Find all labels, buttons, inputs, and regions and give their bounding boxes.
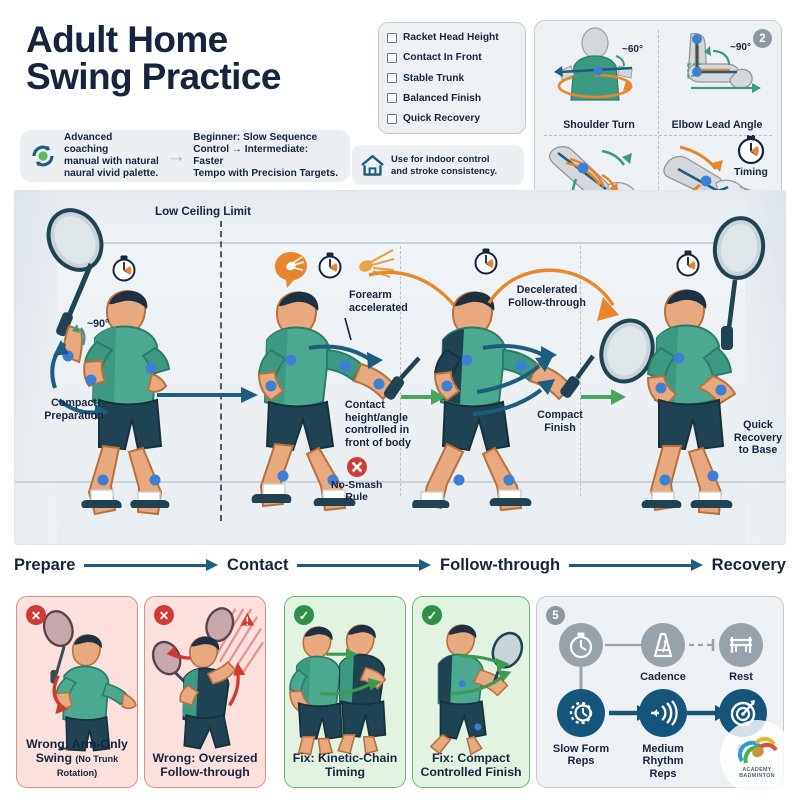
ceiling-limit-divider xyxy=(220,221,222,521)
prepare-angle-label: ~90° xyxy=(87,318,109,330)
stage-label-followthrough: Follow-through xyxy=(440,556,560,575)
home-tip-text: Use for indoor control and stroke consis… xyxy=(391,153,497,177)
no-smash-label: No-Smash Rule xyxy=(331,480,382,503)
checklist-item[interactable]: Racket Head Height xyxy=(387,32,517,43)
home-icon xyxy=(360,154,385,177)
home-tip-bar: Use for indoor control and stroke consis… xyxy=(352,145,524,185)
check-circle-icon: ✓ xyxy=(422,605,442,625)
figure-caption-prepare: Compact Preparation xyxy=(37,397,111,422)
infographic-page: Adult Home Swing Practice Advanced coach… xyxy=(0,0,800,800)
progression-node-label: Medium Rhythm Reps xyxy=(625,743,701,780)
elbow-flex-icon: ~90° xyxy=(658,26,776,120)
checklist-item[interactable]: Quick Recovery xyxy=(387,113,517,124)
x-circle-icon xyxy=(346,456,368,478)
stage-connector-arrow xyxy=(84,559,218,571)
stopwatch-icon xyxy=(111,254,137,282)
checkbox-icon[interactable] xyxy=(387,93,397,103)
academy-logo-icon xyxy=(736,735,778,767)
timing-label: Timing xyxy=(734,167,768,178)
progression-node-label: Slow Form Reps xyxy=(543,743,619,768)
main-sequence-scene: Low Ceiling Limit xyxy=(14,190,786,545)
progression-node-label: Rest xyxy=(703,671,779,683)
figure-recovery xyxy=(635,208,785,508)
checklist-label: Balanced Finish xyxy=(403,93,481,104)
card-wrong-arm-only: ✕ Wrong: Arm-OnlySwing (No Trunk Rotatio… xyxy=(16,596,138,788)
checkbox-icon[interactable] xyxy=(387,73,397,83)
card-caption: Wrong: Oversized Follow-through xyxy=(153,752,258,780)
watermark-logo: ACADEMY BADMINTON xyxy=(720,720,794,794)
racket-icon xyxy=(711,215,767,350)
stopwatch-icon xyxy=(568,631,594,659)
progression-node-medium-rhythm xyxy=(639,689,687,737)
figure-prepare xyxy=(33,208,203,508)
progression-node-label: Cadence xyxy=(625,671,701,683)
torso-rotation-icon: ~60° xyxy=(540,26,658,120)
checklist-panel: Racket Head Height Contact In Front Stab… xyxy=(378,22,526,134)
page-title: Adult Home Swing Practice xyxy=(26,22,281,95)
figure-followthrough xyxy=(413,208,598,508)
shuttle-callout-icon xyxy=(273,251,309,289)
figure-caption-recovery: Quick Recovery to Base xyxy=(727,419,786,457)
checklist-item[interactable]: Contact In Front xyxy=(387,52,517,63)
card-caption: Wrong: Arm-OnlySwing (No Trunk Rotation) xyxy=(17,738,137,780)
cycle-refresh-icon xyxy=(29,142,57,170)
no-smash-marker: No-Smash Rule xyxy=(331,456,382,503)
card-fix-compact-finish: ✓ Fix: Compact Controlled Finish xyxy=(412,596,530,788)
slow-clock-icon xyxy=(567,699,595,727)
rhythm-waves-icon xyxy=(648,700,678,726)
card-wrong-oversized: ✕ xyxy=(144,596,266,788)
technique-cell-shoulder-turn: ~60° Shoulder Turn xyxy=(540,26,658,135)
technique-cell-elbow-lead: ~90° Elbow Lead Angle xyxy=(658,26,776,135)
checklist-label: Contact In Front xyxy=(403,52,482,63)
stopwatch-icon xyxy=(739,135,763,163)
header-note-bar: Advanced coaching manual with natural na… xyxy=(20,130,350,182)
card-fix-kinetic-chain: ✓ Fix: Kinetic-Cha xyxy=(284,596,406,788)
technique-caption: Elbow Lead Angle xyxy=(672,120,763,132)
checkbox-icon[interactable] xyxy=(387,114,397,124)
stopwatch-icon xyxy=(675,249,701,277)
x-circle-icon: ✕ xyxy=(154,605,174,625)
progression-node-rest xyxy=(719,623,763,667)
checklist-item[interactable]: Balanced Finish xyxy=(387,93,517,104)
progression-node-stopwatch xyxy=(559,623,603,667)
scene-arrow-prepare-contact xyxy=(157,387,259,403)
checklist-label: Racket Head Height xyxy=(403,32,499,43)
stage-connector-arrow xyxy=(297,559,431,571)
checklist-label: Stable Trunk xyxy=(403,73,464,84)
stage-label-row: Prepare Contact Follow-through Recovery xyxy=(14,548,786,582)
stage-label-prepare: Prepare xyxy=(14,556,75,575)
racket-icon-secondary xyxy=(148,638,188,686)
checklist-label: Quick Recovery xyxy=(403,113,480,124)
checkbox-icon[interactable] xyxy=(387,33,397,43)
x-circle-icon: ✕ xyxy=(26,605,46,625)
watermark-line2: BADMINTON xyxy=(739,773,775,779)
scene-arrow-followthrough-recovery xyxy=(581,389,627,405)
checklist-item[interactable]: Stable Trunk xyxy=(387,73,517,84)
followthrough-trajectory-arrow xyxy=(487,255,637,355)
progression-node-cadence xyxy=(641,623,685,667)
figure-caption-followthrough: Compact Finish xyxy=(525,409,595,434)
checkbox-icon[interactable] xyxy=(387,53,397,63)
check-circle-icon: ✓ xyxy=(294,605,314,625)
card-caption: Fix: Kinetic-Chain Timing xyxy=(293,752,398,780)
progression-node-slow-form xyxy=(557,689,605,737)
scene-arrow-contact-followthrough xyxy=(401,389,447,405)
arrow-right-icon: → xyxy=(166,147,186,166)
technique-caption: Shoulder Turn xyxy=(563,120,635,132)
elbow-angle-label: ~90° xyxy=(730,42,751,53)
card-caption: Fix: Compact Controlled Finish xyxy=(420,752,521,780)
stage-label-contact: Contact xyxy=(227,556,288,575)
shoulder-angle-label: ~60° xyxy=(622,44,643,55)
header-note-text: Advanced coaching manual with natural na… xyxy=(64,132,159,180)
progression-text: Beginner: Slow Sequence Control → Interm… xyxy=(193,132,341,180)
bench-icon xyxy=(727,633,755,657)
stage-label-recovery: Recovery xyxy=(712,556,786,575)
stopwatch-icon xyxy=(317,251,343,279)
stage-connector-arrow xyxy=(569,559,703,571)
racket-icon xyxy=(38,201,111,337)
metronome-icon xyxy=(650,631,676,659)
